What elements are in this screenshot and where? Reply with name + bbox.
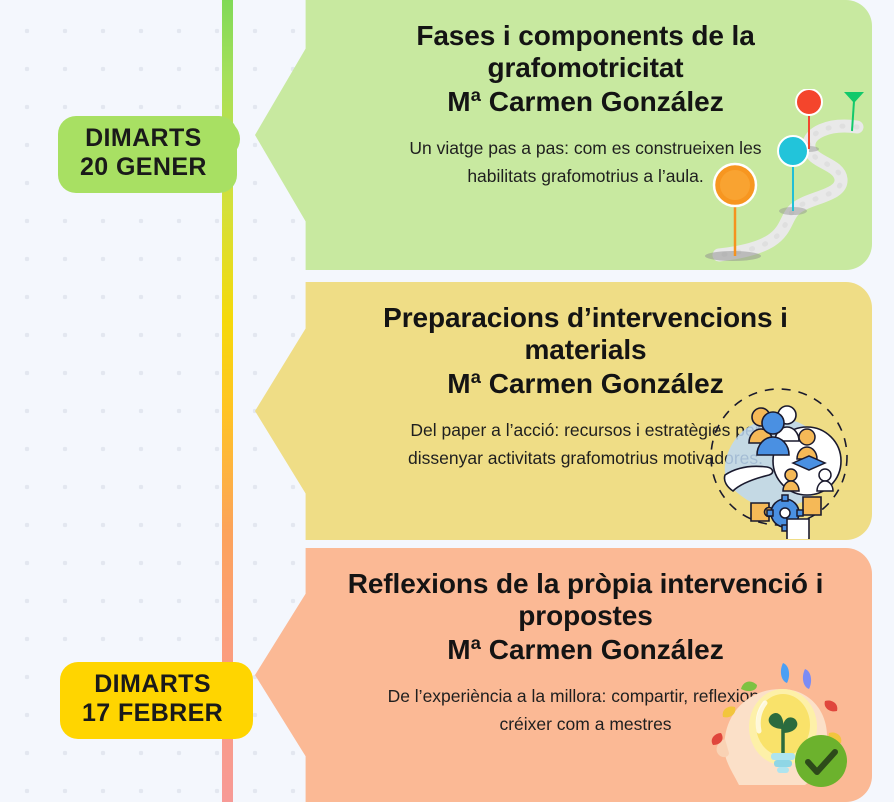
session-card-3[interactable]: Reflexions de la pròpia intervenció i pr… [255,548,872,802]
date-weekday-1: DIMARTS [80,124,207,153]
session-description-3: De l’experiència a la millora: compartir… [386,682,786,739]
session-title-1: Fases i components de la grafomotricitat [339,20,832,85]
date-pill-1[interactable]: DIMARTS 20 GENER [58,116,237,193]
session-title-3: Reflexions de la pròpia intervenció i pr… [339,568,832,633]
session-description-2: Del paper a l’acció: recursos i estratèg… [386,416,786,473]
session-presenter-2: Mª Carmen González [447,367,723,400]
session-presenter-1: Mª Carmen González [447,85,723,118]
timeline-entry-3: DIMARTS 17 MARÇ Reflexions de la pròpia … [0,548,894,802]
timeline-entry-1: DIMARTS 20 GENER Fases i components de l… [0,0,894,270]
session-title-2: Preparacions d’intervencions i materials [339,302,832,367]
session-presenter-3: Mª Carmen González [447,633,723,666]
session-description-1: Un viatge pas a pas: com es construeixen… [386,134,786,191]
timeline-entry-2: DIMARTS 17 FEBRER Preparacions d’interve… [0,282,894,540]
session-card-2[interactable]: Preparacions d’intervencions i materials… [255,282,872,540]
date-day-month-1: 20 GENER [80,153,207,182]
session-card-1[interactable]: Fases i components de la grafomotricitat… [255,0,872,270]
